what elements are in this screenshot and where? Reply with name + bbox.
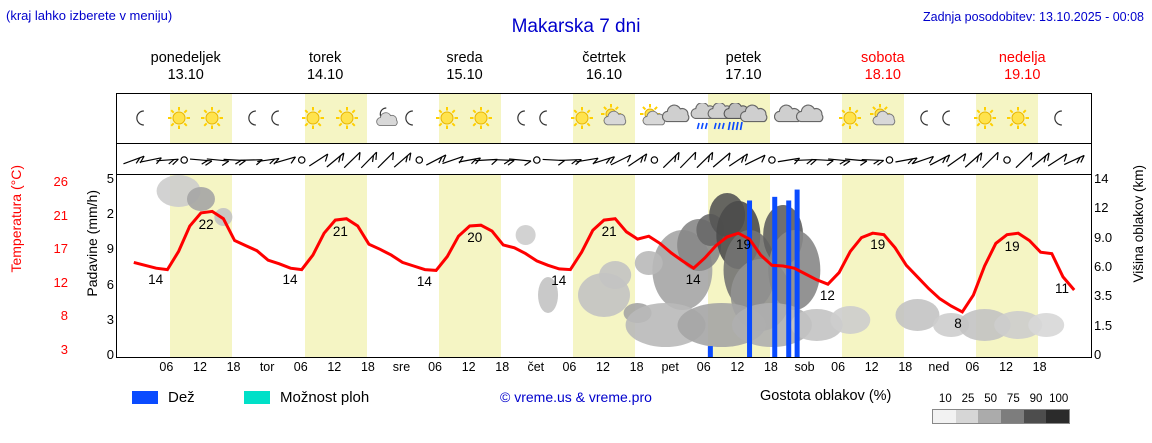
day-date: 15.10 bbox=[395, 67, 534, 84]
x-tick-label: tor bbox=[260, 360, 275, 374]
cloud-height-tick: 12 bbox=[1094, 200, 1128, 215]
day-header-7: nedelja19.10 bbox=[953, 50, 1092, 92]
day-header-3: sreda15.10 bbox=[395, 50, 534, 92]
chart-legend: Dež Možnost ploh © vreme.us & vreme.pro … bbox=[120, 385, 1140, 427]
graph-svg bbox=[117, 175, 1091, 357]
temperature-tick: 8 bbox=[44, 308, 68, 323]
day-date: 16.10 bbox=[534, 67, 673, 84]
temperature-value-label: 14 bbox=[551, 273, 566, 288]
last-updated-text: Zadnja posodobitev: 13.10.2025 - 00:08 bbox=[923, 10, 1144, 24]
weather-icon-sun-cloud bbox=[600, 103, 630, 133]
temperature-value-label: 14 bbox=[417, 274, 432, 289]
x-tick-label: ned bbox=[928, 360, 949, 374]
precipitation-tick: 3 bbox=[98, 312, 114, 327]
cloud-height-tick: 3.5 bbox=[1094, 288, 1128, 303]
temperature-value-label: 8 bbox=[954, 316, 962, 331]
x-tick-label: 18 bbox=[630, 360, 644, 374]
temperature-value-label: 14 bbox=[686, 272, 701, 287]
x-tick-label: 12 bbox=[193, 360, 207, 374]
day-name: petek bbox=[674, 50, 813, 67]
day-date: 19.10 bbox=[953, 67, 1092, 84]
day-header-2: torek14.10 bbox=[255, 50, 394, 92]
temperature-axis-label: Temperatura (°C) bbox=[8, 165, 24, 273]
weather-icon-sun bbox=[1003, 103, 1033, 133]
day-header-5: petek17.10 bbox=[674, 50, 813, 92]
weather-icon-moon bbox=[259, 103, 289, 133]
x-tick-label: 06 bbox=[562, 360, 576, 374]
temperature-value-label: 19 bbox=[1005, 239, 1020, 254]
weather-icon-moon bbox=[527, 103, 557, 133]
rain-legend-label: Dež bbox=[168, 389, 195, 406]
day-name: ponedeljek bbox=[116, 50, 255, 67]
x-tick-label: 12 bbox=[462, 360, 476, 374]
temperature-value-label: 11 bbox=[1055, 281, 1069, 296]
cloud-density-value: 90 bbox=[1030, 393, 1043, 405]
cloud-height-tick: 1.5 bbox=[1094, 318, 1128, 333]
day-header-6: sobota18.10 bbox=[813, 50, 952, 92]
x-tick-label: sob bbox=[794, 360, 814, 374]
cloud-height-axis-ticks: 14129.06.03.51.50 bbox=[1094, 93, 1134, 358]
x-tick-label: 06 bbox=[428, 360, 442, 374]
x-tick-label: 18 bbox=[1033, 360, 1047, 374]
weather-icon-sun bbox=[164, 103, 194, 133]
x-tick-label: 18 bbox=[898, 360, 912, 374]
rain-legend-swatch bbox=[132, 391, 158, 404]
x-tick-label: pet bbox=[661, 360, 678, 374]
temperature-value-label: 14 bbox=[148, 272, 163, 287]
weather-icon-sun bbox=[970, 103, 1000, 133]
day-name: torek bbox=[255, 50, 394, 67]
showers-legend-swatch bbox=[244, 391, 270, 404]
cloud-density-value: 25 bbox=[962, 393, 975, 405]
x-tick-label: 06 bbox=[697, 360, 711, 374]
x-tick-label: 18 bbox=[361, 360, 375, 374]
cloud-height-tick: 0 bbox=[1094, 347, 1128, 362]
x-tick-label: 06 bbox=[294, 360, 308, 374]
temperature-value-label: 21 bbox=[333, 224, 348, 239]
temperature-tick: 21 bbox=[44, 208, 68, 223]
temperature-tick: 26 bbox=[44, 174, 68, 189]
cloud-density-value: 100 bbox=[1049, 393, 1068, 405]
precipitation-axis-ticks: 529630 bbox=[96, 93, 114, 358]
temperature-tick: 3 bbox=[44, 342, 68, 357]
temperature-value-label: 22 bbox=[199, 217, 214, 232]
precipitation-tick: 9 bbox=[98, 241, 114, 256]
credit-link[interactable]: © vreme.us & vreme.pro bbox=[500, 389, 652, 405]
cloud-density-legend-title: Gostota oblakov (%) bbox=[760, 388, 891, 404]
temperature-value-label: 21 bbox=[602, 224, 617, 239]
day-header-row: ponedeljek13.10torek14.10sreda15.10četrt… bbox=[116, 50, 1092, 92]
day-name: četrtek bbox=[534, 50, 673, 67]
x-tick-label: 12 bbox=[596, 360, 610, 374]
day-name: sreda bbox=[395, 50, 534, 67]
x-tick-label: 06 bbox=[159, 360, 173, 374]
temperature-value-label: 19 bbox=[870, 237, 885, 252]
x-tick-label: 12 bbox=[730, 360, 744, 374]
day-date: 18.10 bbox=[813, 67, 952, 84]
meteogram-graph: 14221421142014211419121981911 bbox=[117, 175, 1091, 357]
x-tick-label: 18 bbox=[495, 360, 509, 374]
day-name: nedelja bbox=[953, 50, 1092, 67]
temperature-value-label: 20 bbox=[467, 230, 482, 245]
day-date: 17.10 bbox=[674, 67, 813, 84]
temperature-tick: 12 bbox=[44, 275, 68, 290]
weather-icon-sun bbox=[432, 103, 462, 133]
x-tick-label: 12 bbox=[999, 360, 1013, 374]
weather-icon-sun bbox=[298, 103, 328, 133]
x-tick-label: 06 bbox=[831, 360, 845, 374]
temperature-tick: 17 bbox=[44, 241, 68, 256]
weather-icon-cloud bbox=[740, 103, 770, 133]
x-tick-label: sre bbox=[393, 360, 410, 374]
day-date: 13.10 bbox=[116, 67, 255, 84]
weather-icon-sun bbox=[332, 103, 362, 133]
cloud-height-tick: 9.0 bbox=[1094, 230, 1128, 245]
precipitation-tick: 6 bbox=[98, 277, 114, 292]
forecast-chart: 14221421142014211419121981911 bbox=[116, 93, 1092, 358]
x-tick-label: 06 bbox=[965, 360, 979, 374]
weather-icon-sun-cloud bbox=[869, 103, 899, 133]
weather-icon-moon bbox=[124, 103, 154, 133]
weather-icon-moon bbox=[393, 103, 423, 133]
showers-legend-label: Možnost ploh bbox=[280, 389, 369, 406]
x-tick-label: 12 bbox=[327, 360, 341, 374]
weather-icon-moon bbox=[1042, 103, 1072, 133]
weather-icon-sun bbox=[197, 103, 227, 133]
weather-icon-sun bbox=[466, 103, 496, 133]
weather-icon-cloud bbox=[662, 103, 692, 133]
weather-icon-sun bbox=[567, 103, 597, 133]
wind-barbs bbox=[117, 144, 1091, 175]
precipitation-tick: 5 bbox=[98, 171, 114, 186]
precipitation-tick: 0 bbox=[98, 347, 114, 362]
temperature-axis-ticks: 2621171283 bbox=[42, 93, 68, 358]
weather-icon-moon bbox=[930, 103, 960, 133]
day-header-4: četrtek16.10 bbox=[534, 50, 673, 92]
day-date: 14.10 bbox=[255, 67, 394, 84]
day-name: sobota bbox=[813, 50, 952, 67]
weather-icon-cloud bbox=[796, 103, 826, 133]
x-tick-label: 18 bbox=[227, 360, 241, 374]
temperature-value-label: 14 bbox=[283, 272, 298, 287]
cloud-height-tick: 6.0 bbox=[1094, 259, 1128, 274]
weather-icon-row bbox=[117, 94, 1091, 144]
cloud-height-tick: 14 bbox=[1094, 171, 1128, 186]
day-header-1: ponedeljek13.10 bbox=[116, 50, 255, 92]
weather-icon-sun bbox=[835, 103, 865, 133]
x-axis-tick-labels: 061218tor061218sre061218čet061218pet0612… bbox=[116, 360, 1092, 376]
cloud-density-legend-values: 1025507590100 bbox=[926, 409, 1078, 423]
temperature-value-label: 19 bbox=[736, 237, 751, 252]
precipitation-tick: 2 bbox=[98, 206, 114, 221]
cloud-density-value: 10 bbox=[939, 393, 952, 405]
x-tick-label: 12 bbox=[865, 360, 879, 374]
cloud-density-value: 75 bbox=[1007, 393, 1020, 405]
wind-barb-row bbox=[117, 144, 1091, 175]
x-tick-label: čet bbox=[527, 360, 544, 374]
temperature-value-label: 12 bbox=[820, 288, 835, 303]
x-tick-label: 18 bbox=[764, 360, 778, 374]
cloud-density-value: 50 bbox=[984, 393, 997, 405]
